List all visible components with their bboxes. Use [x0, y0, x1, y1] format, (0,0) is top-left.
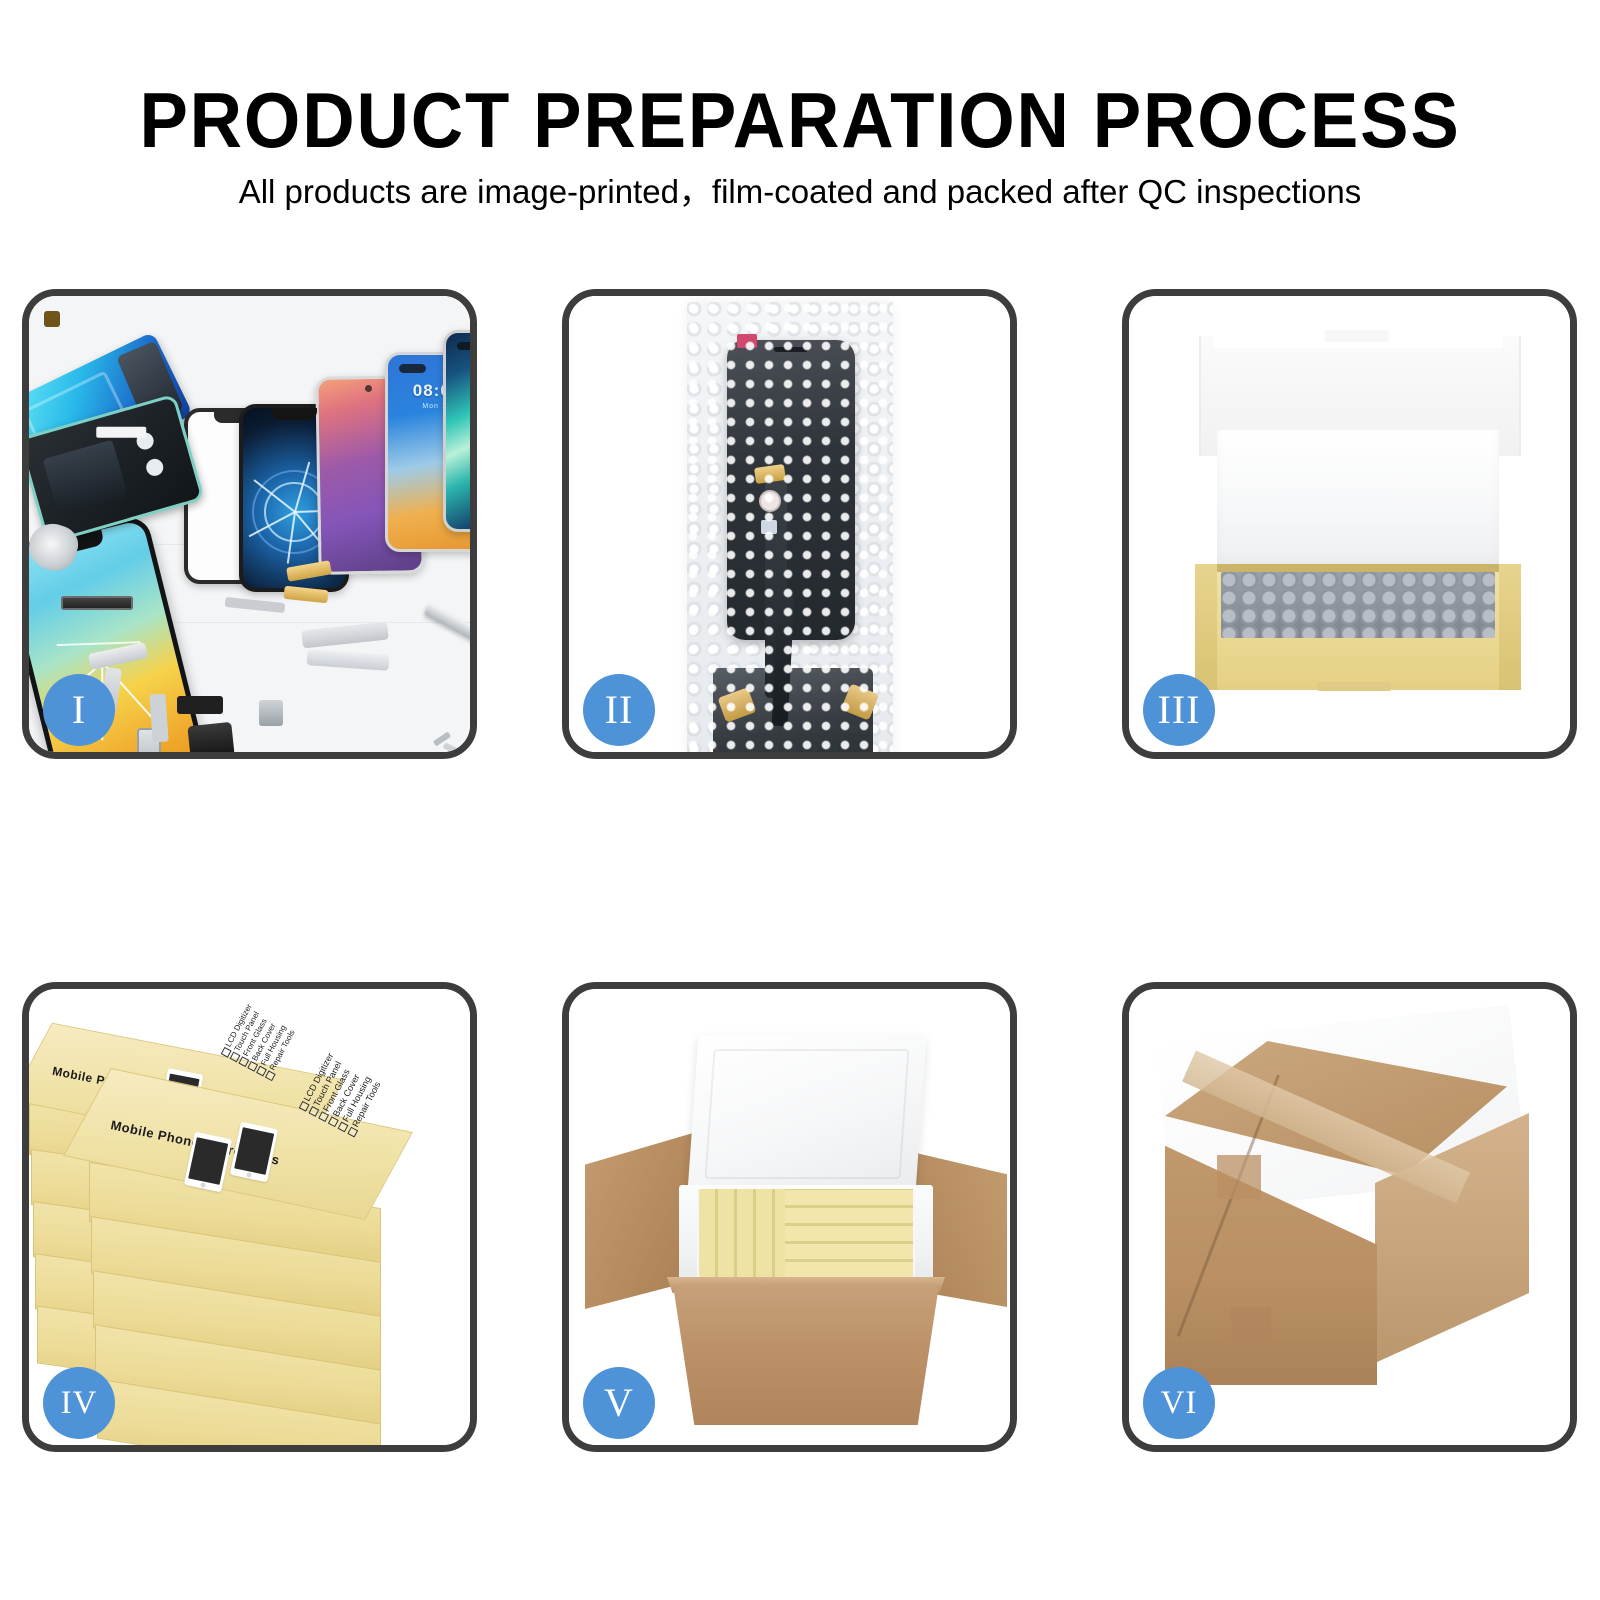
connector-part: [61, 596, 133, 610]
packed-retail-boxes: [785, 1189, 913, 1277]
camera-lens: [144, 457, 165, 478]
process-step-panel-3[interactable]: III: [1122, 289, 1577, 759]
process-step-panel-5[interactable]: V: [562, 982, 1017, 1452]
box-lid-tab: [1325, 330, 1389, 342]
box-side-flap: [1195, 564, 1217, 690]
teal-gradient-phone: [443, 330, 470, 532]
step-badge-3: III: [1143, 674, 1215, 746]
process-step-panel-1[interactable]: 08:08 Mon 12: [22, 289, 477, 759]
step-badge-4: IV: [43, 1367, 115, 1439]
process-step-panel-6[interactable]: VI: [1122, 982, 1577, 1452]
box-side-flap: [1499, 564, 1521, 690]
bracket-part: [149, 694, 168, 743]
notch: [271, 408, 317, 420]
adhesive-strip: [96, 427, 146, 438]
speaker-part: [187, 722, 234, 752]
battery: [43, 440, 128, 516]
step-badge-1: I: [43, 674, 115, 746]
white-foam-sheet: [1217, 430, 1499, 568]
punch-hole-pill: [399, 364, 426, 373]
camera-dot: [365, 385, 372, 392]
foam-cooler-lid: [687, 1035, 926, 1193]
carton-body: [673, 1285, 939, 1425]
box-inner-shadow: [1217, 564, 1499, 572]
bubble-wrap-highlights: [687, 302, 893, 752]
microphone-part: [259, 700, 283, 726]
process-step-grid: 08:08 Mon 12: [0, 0, 1600, 1600]
process-step-panel-4[interactable]: Mobile Phone Spare Parts LCD Digitizer T…: [22, 982, 477, 1452]
box-bottom-tab: [1317, 682, 1391, 691]
step-badge-2: II: [583, 674, 655, 746]
grey-bubble-wrap-filling: [1221, 572, 1495, 638]
packing-tape-patch: [1231, 1307, 1271, 1349]
step-badge-5: V: [583, 1367, 655, 1439]
step-badge-6: VI: [1143, 1367, 1215, 1439]
infographic-page: PRODUCT PREPARATION PROCESS All products…: [0, 0, 1600, 1600]
process-step-panel-2[interactable]: II: [562, 289, 1017, 759]
packing-tape-patch: [1217, 1155, 1261, 1199]
punch-hole-pill: [457, 342, 470, 350]
black-chip-part: [177, 696, 223, 714]
